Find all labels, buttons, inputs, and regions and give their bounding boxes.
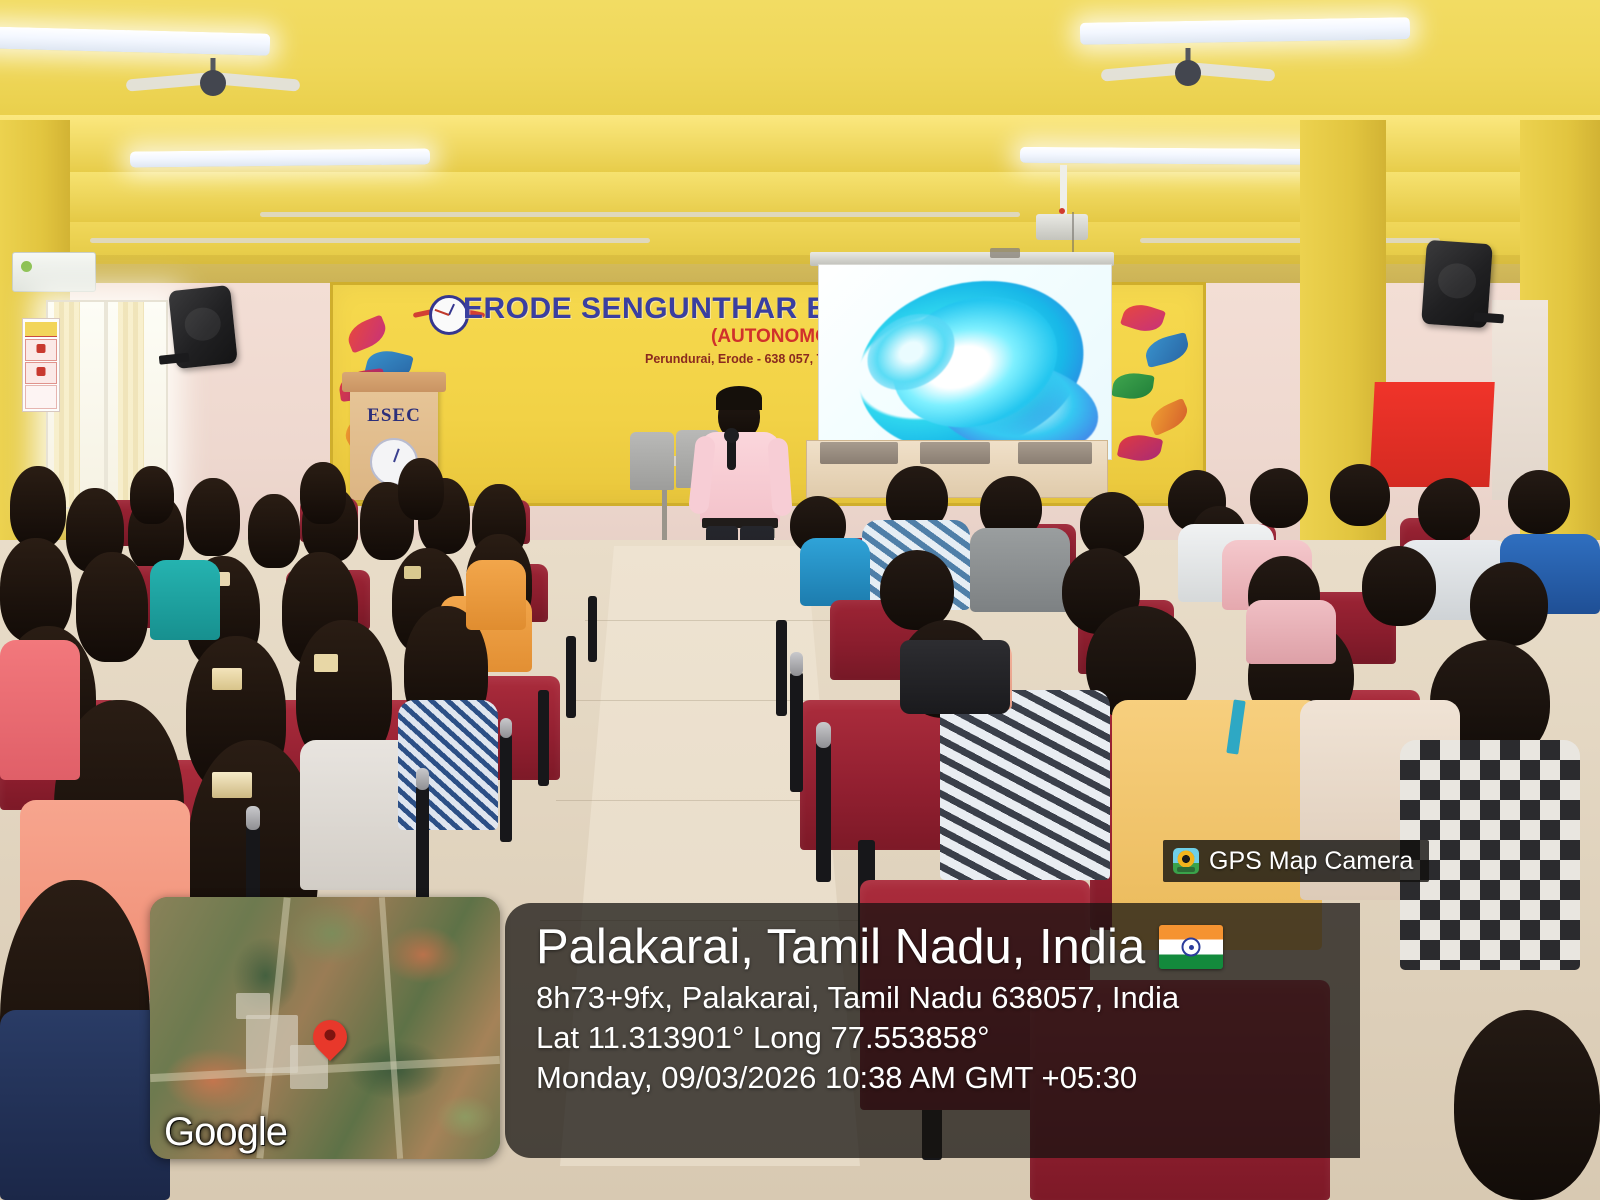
chair-armcap-r2 <box>816 722 831 748</box>
attendee-cyan-shirt <box>800 538 870 606</box>
google-watermark: Google <box>164 1110 287 1155</box>
wall-speaker-left <box>168 285 238 369</box>
microphone-head <box>724 428 739 443</box>
chair-frame-l3 <box>500 734 512 842</box>
india-flag-icon <box>1159 925 1223 969</box>
hairclip-2 <box>404 566 421 579</box>
attendee-printed-kurta <box>398 700 498 830</box>
desk-object-2 <box>920 442 990 464</box>
attendee-l-b11 <box>398 458 444 520</box>
ceiling-tube-light-2 <box>130 148 430 167</box>
ceiling-conduit-mid <box>260 212 1020 217</box>
hairclip-5 <box>212 772 252 798</box>
map-location-pin-icon <box>313 1020 347 1054</box>
ceiling-tube-light-4 <box>1020 147 1340 165</box>
attendee-l-b12 <box>130 466 174 524</box>
podium-label: ESEC <box>350 406 438 425</box>
attendee-r-m1 <box>880 550 954 630</box>
attendee-pink-top <box>0 640 80 780</box>
gps-map-camera-badge: GPS Map Camera <box>1163 840 1429 882</box>
chair-armcap-l1 <box>246 806 260 830</box>
presenter-hair <box>716 386 762 410</box>
overlay-timestamp: Monday, 09/03/2026 10:38 AM GMT +05:30 <box>536 1058 1366 1098</box>
screen-mount-bracket <box>990 248 1020 258</box>
attendee-r-m4 <box>1362 546 1436 626</box>
wall-notice-poster <box>22 318 60 412</box>
ceiling-conduit-left <box>90 238 650 243</box>
hairclip-3 <box>212 668 242 690</box>
overlay-coordinates: Lat 11.313901° Long 77.553858° <box>536 1018 1366 1058</box>
attendee-orange-top <box>466 560 526 630</box>
banner-petal-9 <box>1146 398 1192 436</box>
attendee-grey-shirt <box>970 528 1070 612</box>
overlay-address: 8h73+9fx, Palakarai, Tamil Nadu 638057, … <box>536 978 1366 1018</box>
stage-chair-1 <box>630 432 674 490</box>
chair-armcap-r1 <box>790 652 803 676</box>
banner-petal-1 <box>344 314 391 353</box>
red-display-board <box>1369 382 1495 487</box>
attendee-l-b4 <box>186 478 240 556</box>
map-building-3 <box>236 993 270 1019</box>
attendee-patterned-shirt <box>940 690 1110 880</box>
attendee-pink-mid-r <box>1246 600 1336 664</box>
map-thumbnail: Google <box>150 897 500 1159</box>
attendee-navy-strap <box>0 1010 170 1200</box>
chair-frame-l5 <box>566 636 576 718</box>
gps-map-camera-label: GPS Map Camera <box>1209 847 1413 876</box>
ceiling-fan-2 <box>1175 60 1201 86</box>
attendee-r-b6 <box>1330 464 1390 526</box>
gps-overlay-text: Palakarai, Tamil Nadu, India 8h73+9fx, P… <box>536 916 1366 1098</box>
banner-petal-8 <box>1111 370 1154 401</box>
attendee-r-b5 <box>1250 468 1308 528</box>
chair-frame-r5 <box>776 620 787 716</box>
hairclip-4 <box>314 654 338 672</box>
attendee-r-f5 <box>1454 1010 1600 1200</box>
chair-frame-r1 <box>790 672 803 792</box>
attendee-r-b3 <box>1080 492 1144 558</box>
photo-canvas: ERODE SENGUNTHAR ENG (AUTONOMOU Perundur… <box>0 0 1600 1200</box>
chair-armcap-l2 <box>416 768 429 790</box>
ceiling-conduit-right <box>1140 238 1440 243</box>
projection-screen <box>818 264 1112 460</box>
banner-petal-10 <box>1117 431 1163 465</box>
backpack <box>900 640 1010 714</box>
projector-indicator-light <box>1059 208 1065 214</box>
attendee-l-b10 <box>300 462 346 524</box>
chair-frame-l6 <box>588 596 597 662</box>
overlay-location-title: Palakarai, Tamil Nadu, India <box>536 916 1145 978</box>
ceiling-fan-1 <box>200 70 226 96</box>
attendee-teal-top <box>150 560 220 640</box>
attendee-r-b8 <box>1508 470 1570 534</box>
chair-armcap-l3 <box>500 718 512 738</box>
wall-control-box <box>12 252 96 292</box>
attendee-l-m2 <box>76 552 148 662</box>
chair-frame-r2 <box>816 742 831 882</box>
attendee-l-b5 <box>248 494 300 568</box>
desk-object-1 <box>820 442 898 464</box>
banner-address: Perundurai, Erode - 638 057, Tam <box>645 353 841 366</box>
floor-tile-line-1 <box>585 620 835 621</box>
banner-petal-6 <box>1120 299 1166 336</box>
desk-object-3 <box>1018 442 1092 464</box>
chair-frame-l2 <box>416 786 429 906</box>
wall-speaker-right <box>1421 240 1493 328</box>
attendee-r-b7 <box>1418 478 1480 542</box>
projector-body <box>1036 214 1088 240</box>
overlay-location-title-row: Palakarai, Tamil Nadu, India <box>536 916 1366 978</box>
chair-frame-l4 <box>538 690 549 786</box>
banner-petal-7 <box>1143 332 1192 368</box>
gps-map-camera-icon <box>1173 848 1199 874</box>
attendee-r-m5 <box>1470 562 1548 646</box>
attendee-l-m1 <box>0 538 72 642</box>
attendee-l-b1 <box>10 466 66 548</box>
